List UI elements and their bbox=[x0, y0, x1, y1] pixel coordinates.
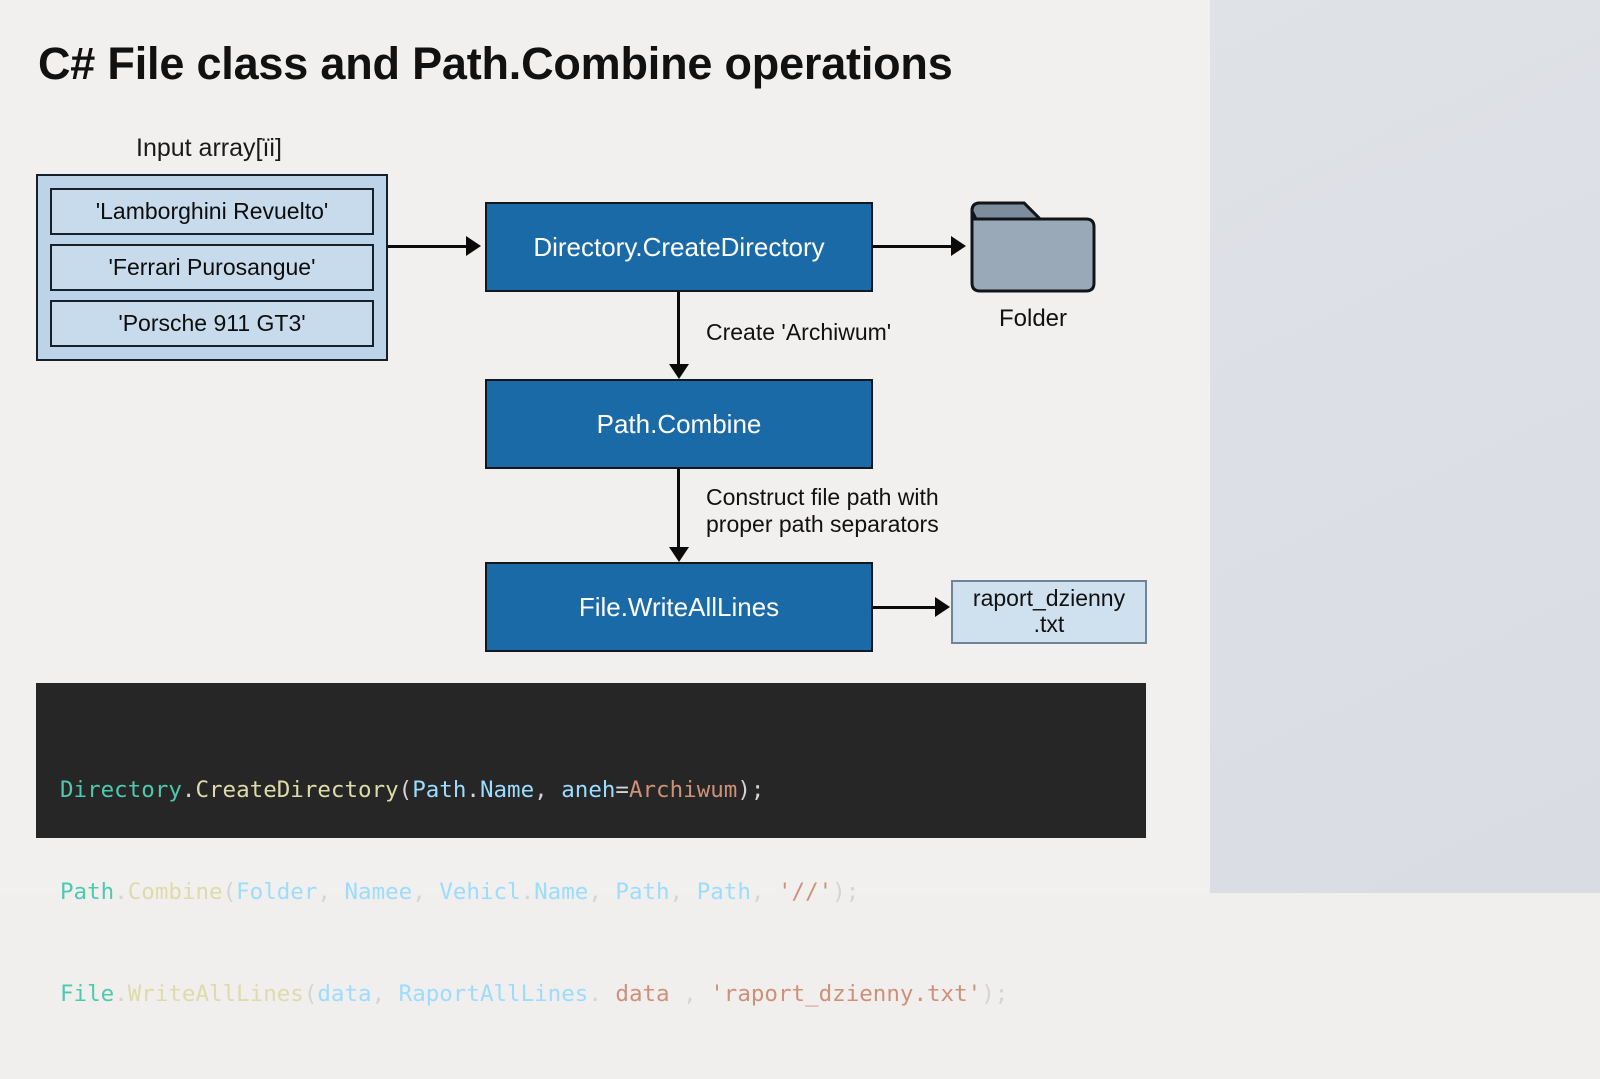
edge-label-create: Create 'Archiwum' bbox=[706, 319, 891, 346]
output-file-name: raport_dzienny bbox=[973, 586, 1125, 612]
input-array-box: 'Lamborghini Revuelto' 'Ferrari Purosang… bbox=[36, 174, 388, 361]
arrowhead-icon bbox=[466, 236, 481, 256]
edge-combine-to-write bbox=[677, 469, 680, 547]
folder-label: Folder bbox=[968, 305, 1098, 333]
arrowhead-icon bbox=[935, 597, 950, 617]
node-write-all-lines[interactable]: File.WriteAllLines bbox=[485, 562, 873, 652]
output-file-ext: .txt bbox=[1034, 612, 1065, 638]
node-output-file[interactable]: raport_dzienny .txt bbox=[951, 580, 1147, 644]
edge-write-to-file bbox=[873, 606, 935, 609]
input-array-label: Input array[ïi] bbox=[136, 134, 282, 163]
folder-icon bbox=[968, 197, 1098, 295]
slide-canvas: C# File class and Path.Combine operation… bbox=[0, 0, 1600, 893]
list-item: 'Ferrari Purosangue' bbox=[50, 244, 374, 291]
node-create-directory[interactable]: Directory.CreateDirectory bbox=[485, 202, 873, 292]
edge-create-to-folder bbox=[873, 245, 951, 248]
node-path-combine[interactable]: Path.Combine bbox=[485, 379, 873, 469]
edge-create-to-combine bbox=[677, 292, 680, 364]
notes-sidebar: A luxury car block archiving to a luxury… bbox=[1210, 0, 1600, 893]
code-line-1: Directory.CreateDirectory(Path.Name, ane… bbox=[60, 773, 1122, 807]
edge-array-to-create bbox=[388, 245, 466, 248]
edge-label-combine: Construct file path with proper path sep… bbox=[706, 484, 939, 538]
code-block: Directory.CreateDirectory(Path.Name, ane… bbox=[36, 683, 1146, 838]
arrowhead-icon bbox=[669, 364, 689, 379]
diagram-panel: C# File class and Path.Combine operation… bbox=[0, 0, 1210, 893]
arrowhead-icon bbox=[669, 547, 689, 562]
page-title: C# File class and Path.Combine operation… bbox=[38, 38, 953, 90]
code-line-2: Path.Combine(Folder, Namee, Vehicl.Name,… bbox=[60, 875, 1122, 909]
arrowhead-icon bbox=[951, 236, 966, 256]
code-line-3: File.WriteAllLines(data, RaportAllLines.… bbox=[60, 977, 1122, 1011]
list-item: 'Porsche 911 GT3' bbox=[50, 300, 374, 347]
list-item: 'Lamborghini Revuelto' bbox=[50, 188, 374, 235]
